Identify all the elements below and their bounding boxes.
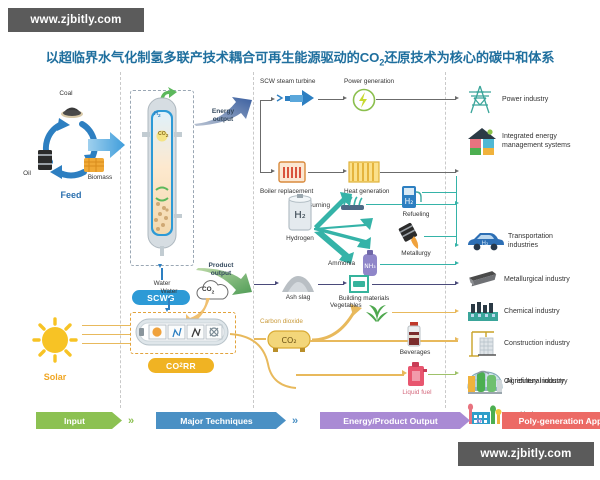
line-building-to-construction [372, 284, 456, 285]
liquid-fuel-icon [406, 362, 428, 388]
line-ash-to-building [318, 284, 344, 285]
label-oil-refinery-industry: Oil refinery industry [504, 378, 564, 387]
label-solar: Solar [26, 372, 84, 383]
arrowhead-heat-generation [343, 169, 347, 173]
line-liquid-fuel-to-refinery [428, 374, 456, 375]
line-product-to-ash [254, 284, 276, 285]
legend-chip-major-techniques: Major Techniques [156, 412, 286, 429]
power-generation-icon [352, 88, 376, 112]
label-carbon-dioxide: Carbon dioxide [260, 318, 303, 326]
arrowhead-power-industry [455, 96, 459, 100]
label-ammonia: Ammonia [328, 260, 355, 268]
diagram-root: www.zjbitly.com www.zjbitly.com 以超临界水气化制… [0, 0, 600, 480]
arrowhead-to-turbine [271, 97, 275, 101]
energy-bus-vertical [260, 100, 261, 172]
scwg-water-line [161, 268, 163, 280]
line-refueling-bus [422, 192, 456, 193]
watermark-bottom: www.zjbitly.com [458, 442, 594, 466]
label-scwg-water: Water [141, 280, 183, 288]
metallurgical-beam-icon [466, 268, 500, 290]
line-power-to-industry [376, 99, 456, 100]
scwg-reactor-icon [142, 86, 182, 266]
label-chemical-industry: Chemical industry [504, 308, 560, 317]
arrowhead-power-generation [343, 96, 347, 100]
heat-generation-icon [348, 160, 380, 184]
label-vegetables: Vegetables [330, 302, 362, 310]
page-title: 以超临界水气化制氢多联产技术耦合可再生能源驱动的CO2还原技术为核心的碳中和体系 [8, 44, 592, 70]
title-suffix: 还原技术为核心的碳中和体系 [384, 50, 554, 65]
legend-chevron-2: » [292, 415, 296, 427]
label-metallurgical-industry: Metallurgical industry [504, 276, 570, 285]
hydrogen-distribution-fan [312, 184, 402, 270]
title-prefix: 以超临界水气化制氢多联产技术耦合可再生能源驱动的CO [46, 50, 380, 65]
label-co2rr-water: Water [148, 288, 190, 296]
badge-co2rr: CO2RR [148, 358, 214, 373]
h2-refueling-icon: H₂ [400, 184, 422, 210]
tag-h2-reactor: H2 [154, 111, 161, 120]
legend-bar: Input » Major Techniques » Energy/Produc… [8, 412, 592, 434]
arrowhead-food-industry [455, 337, 459, 341]
svg-text:H₂: H₂ [294, 210, 306, 221]
arrowhead-agricultural-industry [455, 309, 459, 313]
integrated-energy-house-icon [466, 126, 498, 156]
chemical-plant-icon [466, 300, 500, 322]
arrowhead-to-boiler [271, 169, 275, 173]
label-product-output: Productoutput [198, 262, 244, 278]
co2rr-reactor-icon [134, 316, 230, 348]
label-energy-output: Energyoutput [200, 108, 246, 124]
label-power-industry: Power industry [502, 96, 548, 105]
hydrogen-tank-icon: H₂ [286, 194, 314, 234]
line-heat-to-integrated [380, 172, 456, 173]
line-refueling-riser [456, 192, 457, 246]
arrowhead-ash-slag [275, 281, 279, 285]
label-refueling: Refueling [394, 211, 438, 219]
label-oil: Oil [14, 170, 40, 178]
label-transportation: Transportationindustries [508, 232, 553, 251]
steam-turbine-icon [276, 89, 316, 109]
label-feed-group: Feed [36, 190, 106, 201]
svg-text:NH₃: NH₃ [364, 263, 376, 270]
watermark-top: www.zjbitly.com [8, 8, 144, 32]
diagram-canvas: Coal Biomass Oil Feed Solar [8, 72, 592, 408]
svg-text:CO₂: CO₂ [281, 336, 296, 345]
legend-chevron-1: » [128, 415, 132, 427]
label-integrated-energy: Integrated energymanagement systems [502, 132, 570, 151]
label-coal: Coal [46, 90, 86, 98]
arrowhead-transportation [455, 243, 459, 247]
arrowhead-building-materials [343, 281, 347, 285]
arrowhead-liquid-fuel [402, 370, 407, 376]
solar-ray-1 [82, 325, 130, 326]
vegetables-icon [364, 298, 390, 322]
arrowhead-integrated-energy [455, 169, 459, 173]
line-beverages-to-food [422, 340, 456, 341]
label-liquid-fuel: Liquid fuel [394, 389, 440, 397]
line-ammonia-to-chemical [380, 264, 456, 265]
co2rr-water-arrowhead [165, 308, 169, 312]
svg-text:H₂: H₂ [405, 197, 414, 206]
beverages-icon [406, 322, 422, 348]
label-ash-slag: Ash slag [276, 294, 320, 302]
svg-text:H₂: H₂ [482, 240, 490, 247]
arrowhead-chemical-industry [455, 261, 459, 265]
arrow-feed-to-scwg [86, 130, 128, 160]
legend-chip-input: Input [36, 412, 122, 429]
legend-chevron-3: » [476, 415, 480, 427]
page-title-text: 以超临界水气化制氢多联产技术耦合可再生能源驱动的CO2还原技术为核心的碳中和体系 [46, 47, 555, 68]
metallurgy-ladle-icon [398, 222, 426, 250]
arrowhead-construction-industry [455, 281, 459, 285]
oil-refinery-icon [466, 368, 504, 394]
label-beverages: Beverages [394, 349, 436, 357]
divider-input-techniques [120, 72, 121, 408]
building-materials-icon [348, 274, 370, 294]
label-scw-steam-turbine: SCW steam turbine [260, 78, 315, 86]
line-boiler-to-heat [308, 172, 344, 173]
line-turbine-to-power [318, 99, 344, 100]
legend-chip-energy-product-output: Energy/Product Output [320, 412, 470, 429]
label-metallurgy: Metallurgy [392, 250, 440, 258]
solar-sun-icon [22, 310, 88, 374]
line-to-liquid-fuel [296, 374, 404, 376]
label-co2-cloud: CO2 [202, 286, 214, 296]
label-power-generation: Power generation [344, 78, 394, 86]
boiler-icon [278, 160, 306, 184]
label-construction-industry: Construction industry [504, 340, 570, 349]
solar-ray-2 [82, 334, 130, 335]
construction-crane-icon [466, 330, 500, 358]
transportation-car-icon: H₂ [466, 228, 504, 252]
line-vegetables-to-agriculture [392, 312, 456, 313]
ash-slag-icon [280, 272, 316, 294]
line-co2rr-to-co2-tank [254, 338, 266, 340]
label-biomass: Biomass [76, 174, 124, 182]
legend-chip-poly-generation: Poly-generation Application [502, 412, 600, 429]
solar-ray-3 [82, 343, 130, 344]
line-metallurgy-bus [424, 236, 456, 237]
tag-co2-reactor: CO2 [158, 131, 168, 140]
scwg-water-arrowhead [158, 264, 162, 268]
divider-output-application [445, 72, 446, 408]
arrowhead-oil-refinery [455, 371, 459, 375]
carbon-dioxide-tank-icon: CO₂ [266, 328, 312, 354]
power-pylon-icon [466, 84, 494, 114]
